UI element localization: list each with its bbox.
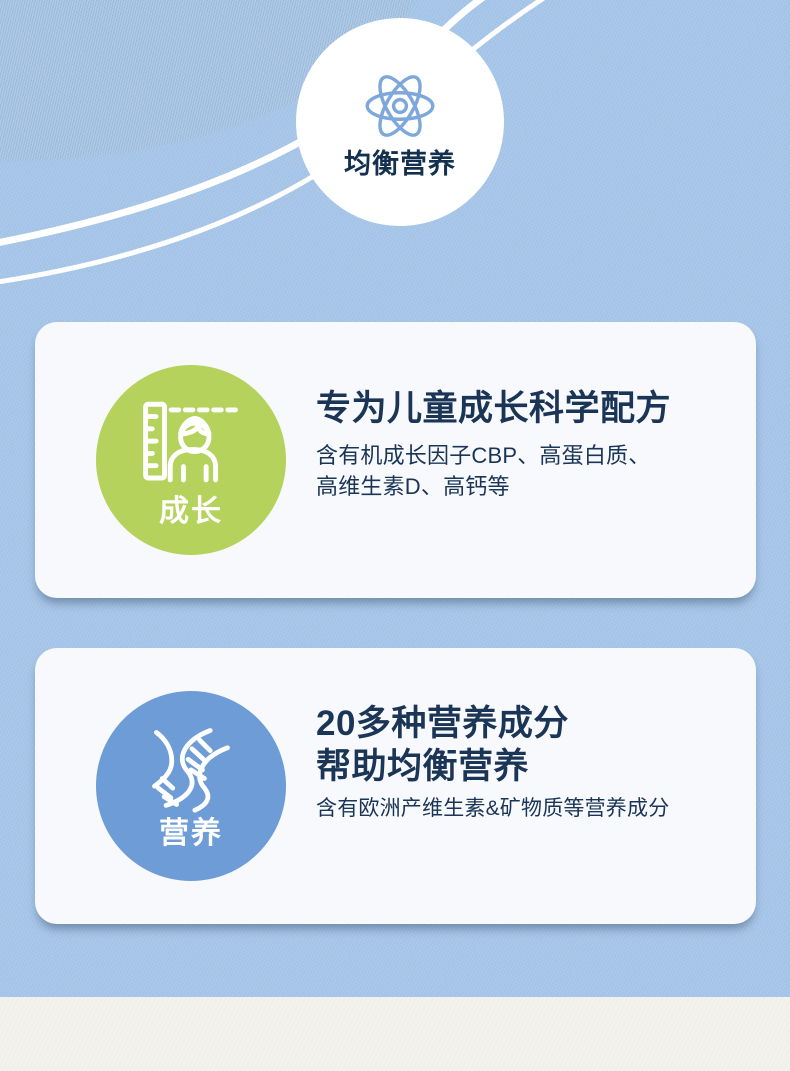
nutrition-circle-label: 营养 bbox=[159, 819, 223, 849]
badge-label: 均衡营养 bbox=[344, 151, 456, 178]
nutrition-icon-circle: 营养 bbox=[96, 691, 286, 881]
feature-card-nutrition: 营养 20多种营养成分 帮助均衡营养 含有欧洲产维生素&矿物质等营养成分 bbox=[35, 648, 756, 924]
nutrition-card-title: 20多种营养成分 帮助均衡营养 bbox=[316, 703, 732, 788]
ruler-child-icon bbox=[139, 391, 243, 495]
page-stage: 均衡营养 bbox=[0, 0, 790, 1071]
nutrition-card-description: 含有欧洲产维生素&矿物质等营养成分 bbox=[316, 794, 732, 824]
dna-helix-icon bbox=[143, 719, 239, 815]
atom-icon bbox=[361, 67, 439, 145]
bottom-strip bbox=[0, 997, 790, 1071]
feature-card-growth: 成长 专为儿童成长科学配方 含有机成长因子CBP、高蛋白质、 高维生素D、高钙等 bbox=[35, 322, 756, 598]
growth-card-title: 专为儿童成长科学配方 bbox=[316, 388, 732, 431]
growth-icon-circle: 成长 bbox=[96, 365, 286, 555]
growth-circle-label: 成长 bbox=[159, 497, 223, 527]
balanced-nutrition-badge: 均衡营养 bbox=[296, 18, 504, 226]
growth-card-description: 含有机成长因子CBP、高蛋白质、 高维生素D、高钙等 bbox=[316, 440, 732, 502]
